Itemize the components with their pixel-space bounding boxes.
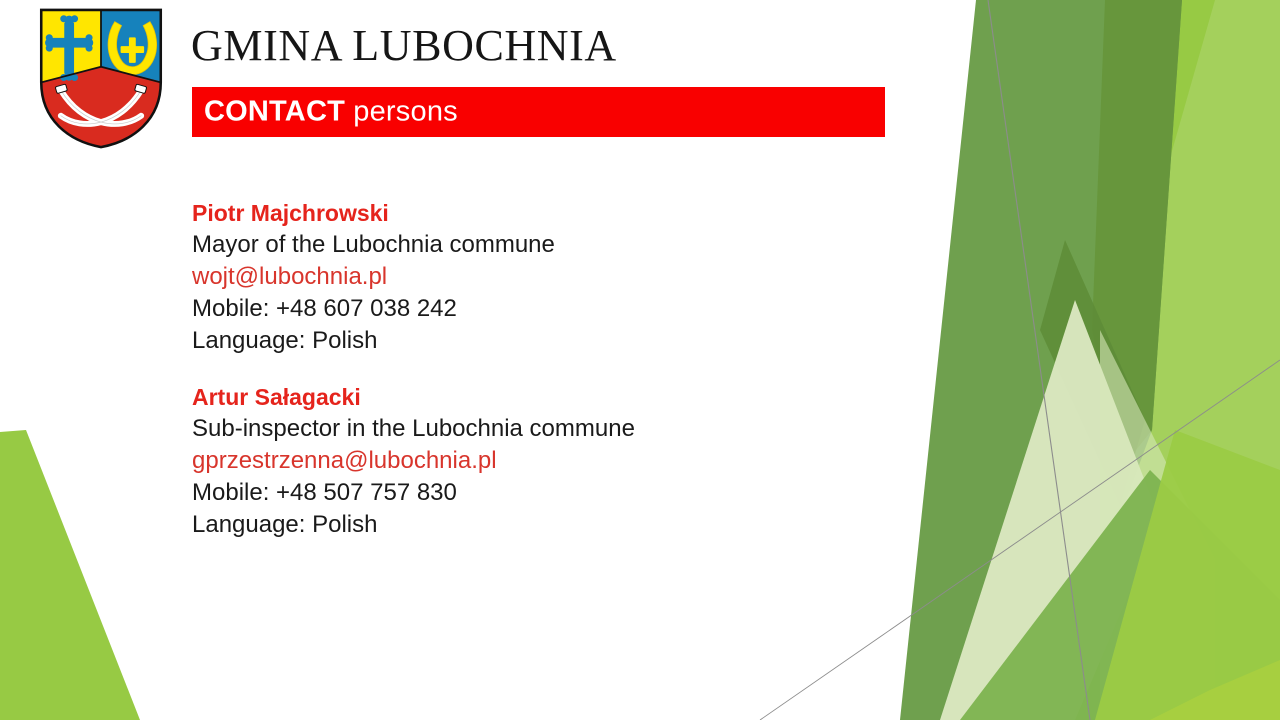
contact-email[interactable]: gprzestrzenna@lubochnia.pl xyxy=(192,445,892,477)
slide-canvas: GMINA LUBOCHNIA CONTACT persons Piotr Ma… xyxy=(0,0,1280,720)
contact-name: Piotr Majchrowski xyxy=(192,197,892,229)
contact-role: Sub-inspector in the Lubochnia commune xyxy=(192,413,892,445)
deco-shape-pale-secondary xyxy=(1100,330,1215,720)
deco-shape-light-mid xyxy=(1010,0,1280,720)
deco-shape-dark-sliver xyxy=(1092,0,1182,470)
contact-role: Mayor of the Lubochnia commune xyxy=(192,229,892,261)
contact-person-list: Piotr Majchrowski Mayor of the Lubochnia… xyxy=(192,197,892,541)
section-banner-text: CONTACT persons xyxy=(204,95,458,127)
contact-name: Artur Sałagacki xyxy=(192,381,892,413)
banner-subject: persons xyxy=(345,95,458,127)
deco-shape-dark-band xyxy=(1040,240,1145,505)
deco-shape-medium-top xyxy=(900,0,1182,720)
deco-shape-pale-lower xyxy=(940,300,1160,720)
deco-hairline-steep xyxy=(988,0,1090,720)
gmina-lubochnia-crest-icon xyxy=(36,6,166,151)
contact-language: Language: Polish xyxy=(192,509,892,541)
contact-person-card: Piotr Majchrowski Mayor of the Lubochnia… xyxy=(192,197,892,357)
contact-mobile: Mobile: +48 607 038 242 xyxy=(192,293,892,325)
contact-mobile: Mobile: +48 507 757 830 xyxy=(192,477,892,509)
contact-language: Language: Polish xyxy=(192,325,892,357)
deco-shape-bright-tail xyxy=(1150,660,1280,720)
banner-keyword: CONTACT xyxy=(204,95,345,127)
section-banner: CONTACT persons xyxy=(192,87,885,137)
deco-shape-mid-lower-slab xyxy=(960,470,1280,720)
deco-shape-bright-lower xyxy=(1095,430,1280,720)
deco-shape-left-wedge xyxy=(0,430,140,720)
contact-person-card: Artur Sałagacki Sub-inspector in the Lub… xyxy=(192,381,892,541)
deco-shape-bright-base xyxy=(980,0,1280,720)
contact-email[interactable]: wojt@lubochnia.pl xyxy=(192,261,892,293)
page-title: GMINA LUBOCHNIA xyxy=(191,18,617,74)
